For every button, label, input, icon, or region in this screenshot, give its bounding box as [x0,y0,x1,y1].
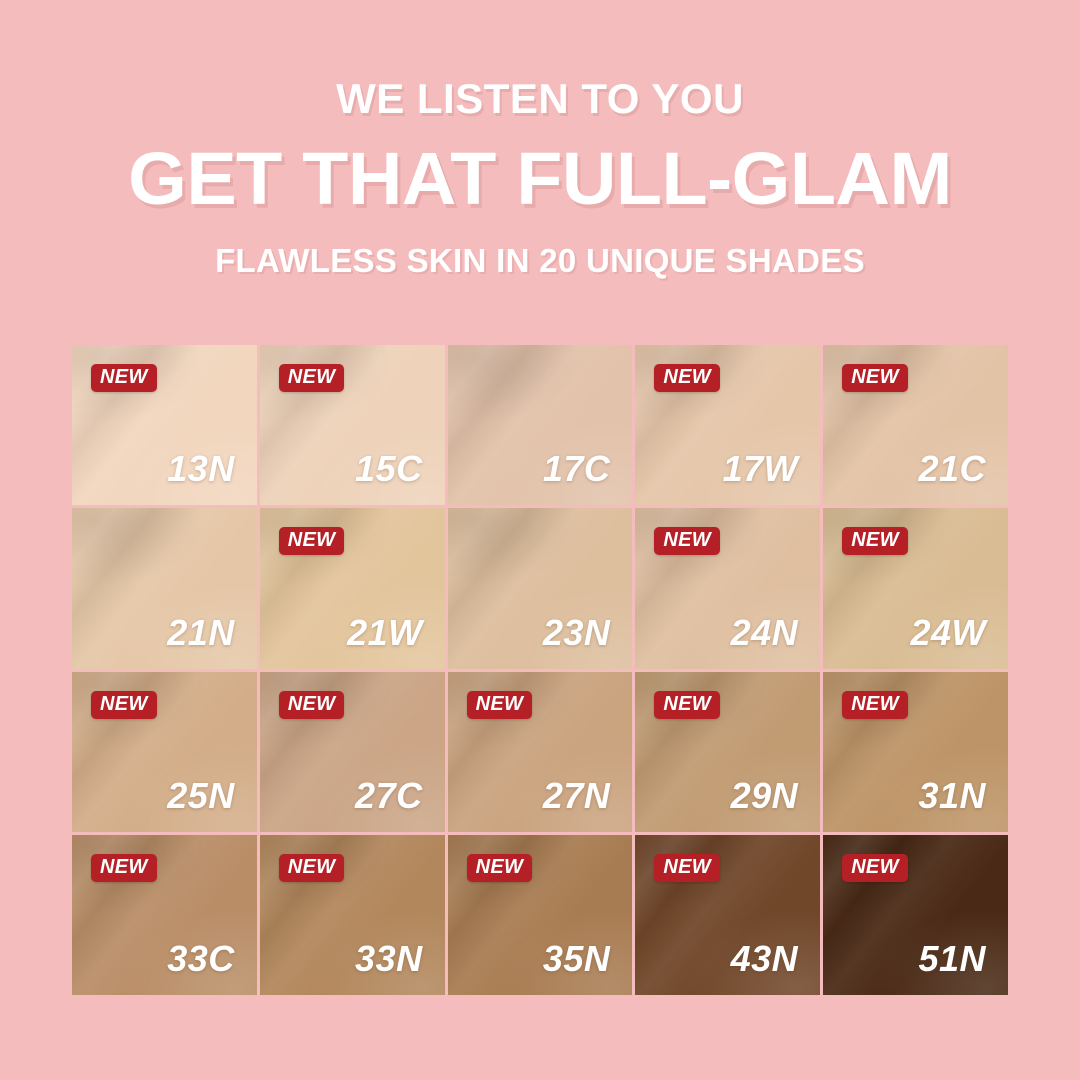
shade-swatch[interactable]: 17C [448,345,633,505]
shade-label: 21C [918,451,986,487]
shade-label: 33C [167,941,235,977]
shade-swatch[interactable]: NEW29N [635,672,820,832]
shade-swatch[interactable]: NEW24N [635,508,820,668]
new-badge: NEW [467,691,533,719]
shade-label: 25N [167,778,235,814]
new-badge: NEW [654,854,720,882]
shade-swatch[interactable]: NEW33C [72,835,257,995]
promo-page: WE LISTEN TO YOU GET THAT FULL-GLAM FLAW… [0,0,1080,1080]
shade-label: 21W [347,615,423,651]
shade-swatch[interactable]: NEW33N [260,835,445,995]
new-badge: NEW [842,691,908,719]
new-badge: NEW [279,854,345,882]
shade-label: 27C [355,778,423,814]
shade-swatch[interactable]: NEW13N [72,345,257,505]
shade-label: 17C [543,451,611,487]
shade-label: 13N [167,451,235,487]
header-block: WE LISTEN TO YOU GET THAT FULL-GLAM FLAW… [0,78,1080,277]
shade-swatch[interactable]: NEW25N [72,672,257,832]
new-badge: NEW [279,364,345,392]
shade-swatch[interactable]: 23N [448,508,633,668]
shade-label: 21N [167,615,235,651]
shade-swatch[interactable]: NEW17W [635,345,820,505]
shade-label: 31N [918,778,986,814]
new-badge: NEW [654,691,720,719]
shade-label: 27N [543,778,611,814]
new-badge: NEW [91,691,157,719]
shade-swatch[interactable]: NEW43N [635,835,820,995]
shade-label: 51N [918,941,986,977]
new-badge: NEW [279,527,345,555]
shade-swatch[interactable]: NEW15C [260,345,445,505]
shade-swatch[interactable]: NEW21C [823,345,1008,505]
new-badge: NEW [467,854,533,882]
shade-swatch[interactable]: NEW27C [260,672,445,832]
new-badge: NEW [279,691,345,719]
shade-swatch[interactable]: NEW51N [823,835,1008,995]
new-badge: NEW [91,854,157,882]
shade-label: 24N [731,615,799,651]
new-badge: NEW [842,527,908,555]
new-badge: NEW [654,527,720,555]
shade-swatch[interactable]: 21N [72,508,257,668]
shade-label: 43N [731,941,799,977]
page-title: GET THAT FULL-GLAM [0,142,1080,216]
new-badge: NEW [842,364,908,392]
shade-label: 33N [355,941,423,977]
shade-label: 35N [543,941,611,977]
shade-swatch[interactable]: NEW35N [448,835,633,995]
new-badge: NEW [654,364,720,392]
new-badge: NEW [91,364,157,392]
new-badge: NEW [842,854,908,882]
shade-label: 17W [723,451,799,487]
shade-swatch[interactable]: NEW31N [823,672,1008,832]
shade-label: 24W [910,615,986,651]
eyebrow-text: WE LISTEN TO YOU [0,78,1080,120]
shade-label: 15C [355,451,423,487]
shade-grid: NEW13NNEW15C17CNEW17WNEW21C21NNEW21W23NN… [72,345,1008,995]
shade-swatch[interactable]: NEW21W [260,508,445,668]
shade-label: 23N [543,615,611,651]
shade-swatch[interactable]: NEW24W [823,508,1008,668]
subtitle-text: FLAWLESS SKIN IN 20 UNIQUE SHADES [0,244,1080,277]
shade-swatch[interactable]: NEW27N [448,672,633,832]
shade-label: 29N [731,778,799,814]
